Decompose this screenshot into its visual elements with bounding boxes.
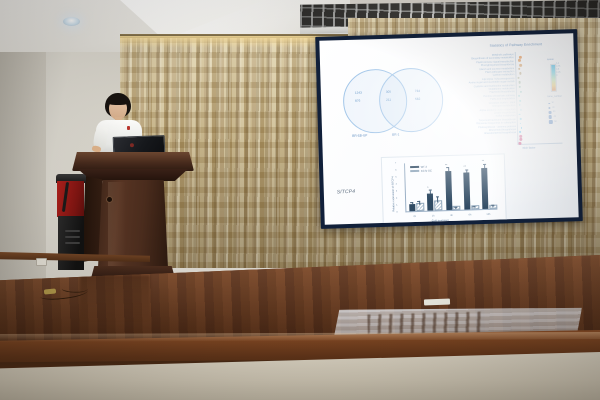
venn-count-right-b: 562: [415, 98, 420, 102]
barchart-xtick: 12h: [482, 213, 494, 216]
barchart-ytick: 1: [396, 205, 397, 207]
venn-label-right: BR-1: [392, 132, 399, 136]
venn-count-right-a: 734: [415, 90, 420, 94]
error-bar-cap: [410, 202, 413, 203]
significance-marker: **: [463, 165, 465, 169]
dotplot-dot: [518, 67, 520, 69]
dotplot-colorbar-title: qvalue: [547, 59, 554, 61]
bar-CCTs-OE-0h: [416, 202, 424, 211]
case-red-panel: [57, 181, 84, 217]
slide-content: 1243 876 305 211 734 562 BR-SB-UP BR-1 S…: [319, 33, 578, 224]
barchart-ytick: 2: [396, 198, 397, 200]
dotplot-dot: [519, 64, 522, 67]
dotplot-dot: [520, 118, 522, 120]
barchart-xtick: 0h: [409, 215, 421, 218]
dotplot-size-legend-title: Gene_number: [547, 96, 562, 98]
case-vent: [65, 236, 80, 238]
wall-socket: [36, 258, 47, 266]
size-legend-marker: [548, 102, 550, 104]
error-bar-cap: [483, 164, 486, 165]
error-bar: [430, 190, 431, 194]
bar-WT-3-1h: [427, 194, 433, 211]
barchart-ytick: 0: [396, 212, 397, 214]
podium: [72, 152, 194, 284]
legend-swatch-series2: [410, 170, 419, 173]
error-bar: [437, 196, 438, 202]
dotplot-dot: [519, 81, 521, 83]
error-bar-cap: [491, 205, 494, 206]
error-bar: [448, 168, 449, 171]
barchart-xtick: 6h: [464, 213, 476, 216]
significance-marker: *: [427, 185, 428, 189]
screen-surface: 1243 876 305 211 734 562 BR-SB-UP BR-1 S…: [319, 33, 578, 224]
error-bar-cap: [446, 167, 449, 168]
error-bar: [474, 206, 475, 207]
size-legend-marker: [549, 111, 552, 114]
barchart-ytick: 7: [395, 163, 396, 165]
barchart-xtick: 3h: [446, 214, 458, 217]
significance-marker: **: [445, 163, 447, 167]
error-bar: [492, 205, 493, 206]
size-legend-marker: [548, 107, 550, 109]
size-legend-label: 40: [554, 116, 556, 118]
dotplot-dot: [519, 138, 522, 141]
error-bar: [466, 170, 467, 173]
error-bar-cap: [454, 207, 457, 208]
dotplot-colorbar-ticks: 1.00.750.50.250: [556, 63, 561, 79]
pathway-enrichment-dotplot: Statistics of Pathway Enrichment Metabol…: [467, 42, 566, 157]
error-bar-cap: [417, 201, 420, 202]
dotplot-dot: [519, 72, 521, 74]
legend-swatch-series1: [410, 166, 419, 169]
podium-knob: [106, 196, 113, 203]
dotplot-size-legend: 1020304050: [548, 101, 557, 124]
bar-WT-3-0h: [409, 204, 415, 211]
bar-WT-3-3h: [445, 171, 452, 210]
dotplot-term: Brassinosteroid biosynthesis: [470, 131, 516, 136]
recessed-downlight-icon: [63, 17, 80, 26]
case-black-panel: [58, 216, 84, 270]
dotplot-dot: [519, 90, 521, 92]
dotplot-dot: [519, 142, 522, 145]
error-bar-cap: [428, 190, 431, 191]
venn-count-left-a: 1243: [355, 92, 362, 96]
dotplot-dot: [519, 100, 521, 102]
error-bar-cap: [465, 169, 468, 170]
barchart-ytick: 4: [396, 184, 397, 186]
dotplot-dot: [519, 131, 521, 133]
venn-count-overlap-a: 305: [386, 91, 391, 95]
venn-label-left: BR-SB-UP: [352, 133, 367, 137]
size-legend-marker: [549, 120, 553, 124]
error-bar: [484, 164, 485, 168]
barchart-xticks: 0h1h3h6h12h: [382, 154, 504, 158]
presenter-badge: [127, 126, 130, 130]
dotplot-xlabel: Rich factor: [523, 146, 536, 149]
venn-count-overlap-b: 211: [386, 99, 391, 103]
barchart-ytick: 3: [396, 191, 397, 193]
dotplot-dot: [518, 86, 520, 88]
dotplot-term-labels: Metabolic pathwaysBiosynthesis of second…: [468, 53, 516, 136]
expression-bar-chart: SlTCP4 Relative expression of SlTCP4 012…: [381, 153, 507, 224]
barchart-xtick: 1h: [427, 214, 439, 217]
colorbar-tick: 0: [556, 75, 560, 78]
presenter-fringe: [106, 95, 130, 105]
dotplot-dot: [519, 114, 521, 116]
dotplot-dot: [519, 135, 522, 138]
projection-screen: 1243 876 305 211 734 562 BR-SB-UP BR-1 S…: [315, 29, 583, 229]
barchart-ytick: 5: [395, 177, 396, 179]
size-legend-label: 20: [552, 107, 554, 109]
significance-marker: **: [482, 159, 484, 163]
legend-label-series1: WT-3: [421, 165, 427, 168]
error-bar-cap: [473, 206, 476, 207]
venn-count-left-b: 876: [355, 100, 360, 104]
presentation-photo: MITSUBISHI 1243 876 305 211 734 562 BR-S…: [0, 0, 600, 400]
size-legend-label: 10: [551, 102, 553, 104]
gene-name-label: SlTCP4: [337, 189, 356, 196]
barchart-ylabel: Relative expression of SlTCP4: [391, 166, 395, 212]
dotplot-dot: [518, 59, 521, 62]
error-bar-cap: [435, 196, 438, 197]
bar-WT-3-12h: [482, 168, 489, 209]
barchart-ytick: 6: [395, 170, 396, 172]
size-legend-row: 50: [549, 119, 557, 124]
error-bar: [412, 202, 413, 204]
bar-WT-3-6h: [463, 172, 470, 209]
venn-diagram: 1243 876 305 211 734 562 BR-SB-UP BR-1: [342, 63, 452, 142]
size-legend-label: 50: [554, 120, 556, 122]
podium-reflection: [80, 275, 150, 321]
podium-top: [72, 152, 194, 171]
legend-label-series2: CCTs-OE: [421, 169, 432, 172]
barchart-xlabel: Cold treatment: [432, 219, 449, 223]
barchart-legend: WT-3 CCTs-OE: [410, 165, 432, 174]
left-wall-shadow: [0, 30, 46, 290]
size-legend-label: 30: [553, 111, 555, 113]
dotplot-dot: [520, 127, 522, 129]
error-bar: [419, 201, 420, 205]
paper-on-stage: [424, 299, 450, 306]
laptop-logo-icon: [130, 143, 134, 147]
bar-CCTs-OE-1h: [434, 200, 442, 211]
dotplot-title: Statistics of Pathway Enrichment: [489, 42, 542, 48]
podium-highlight: [108, 182, 126, 266]
dotplot-dot: [518, 55, 521, 58]
case-vent: [65, 242, 80, 244]
error-bar: [456, 207, 457, 208]
case-vent: [65, 230, 80, 232]
barchart-yticks: 01234567: [382, 154, 504, 158]
size-legend-marker: [549, 115, 552, 118]
